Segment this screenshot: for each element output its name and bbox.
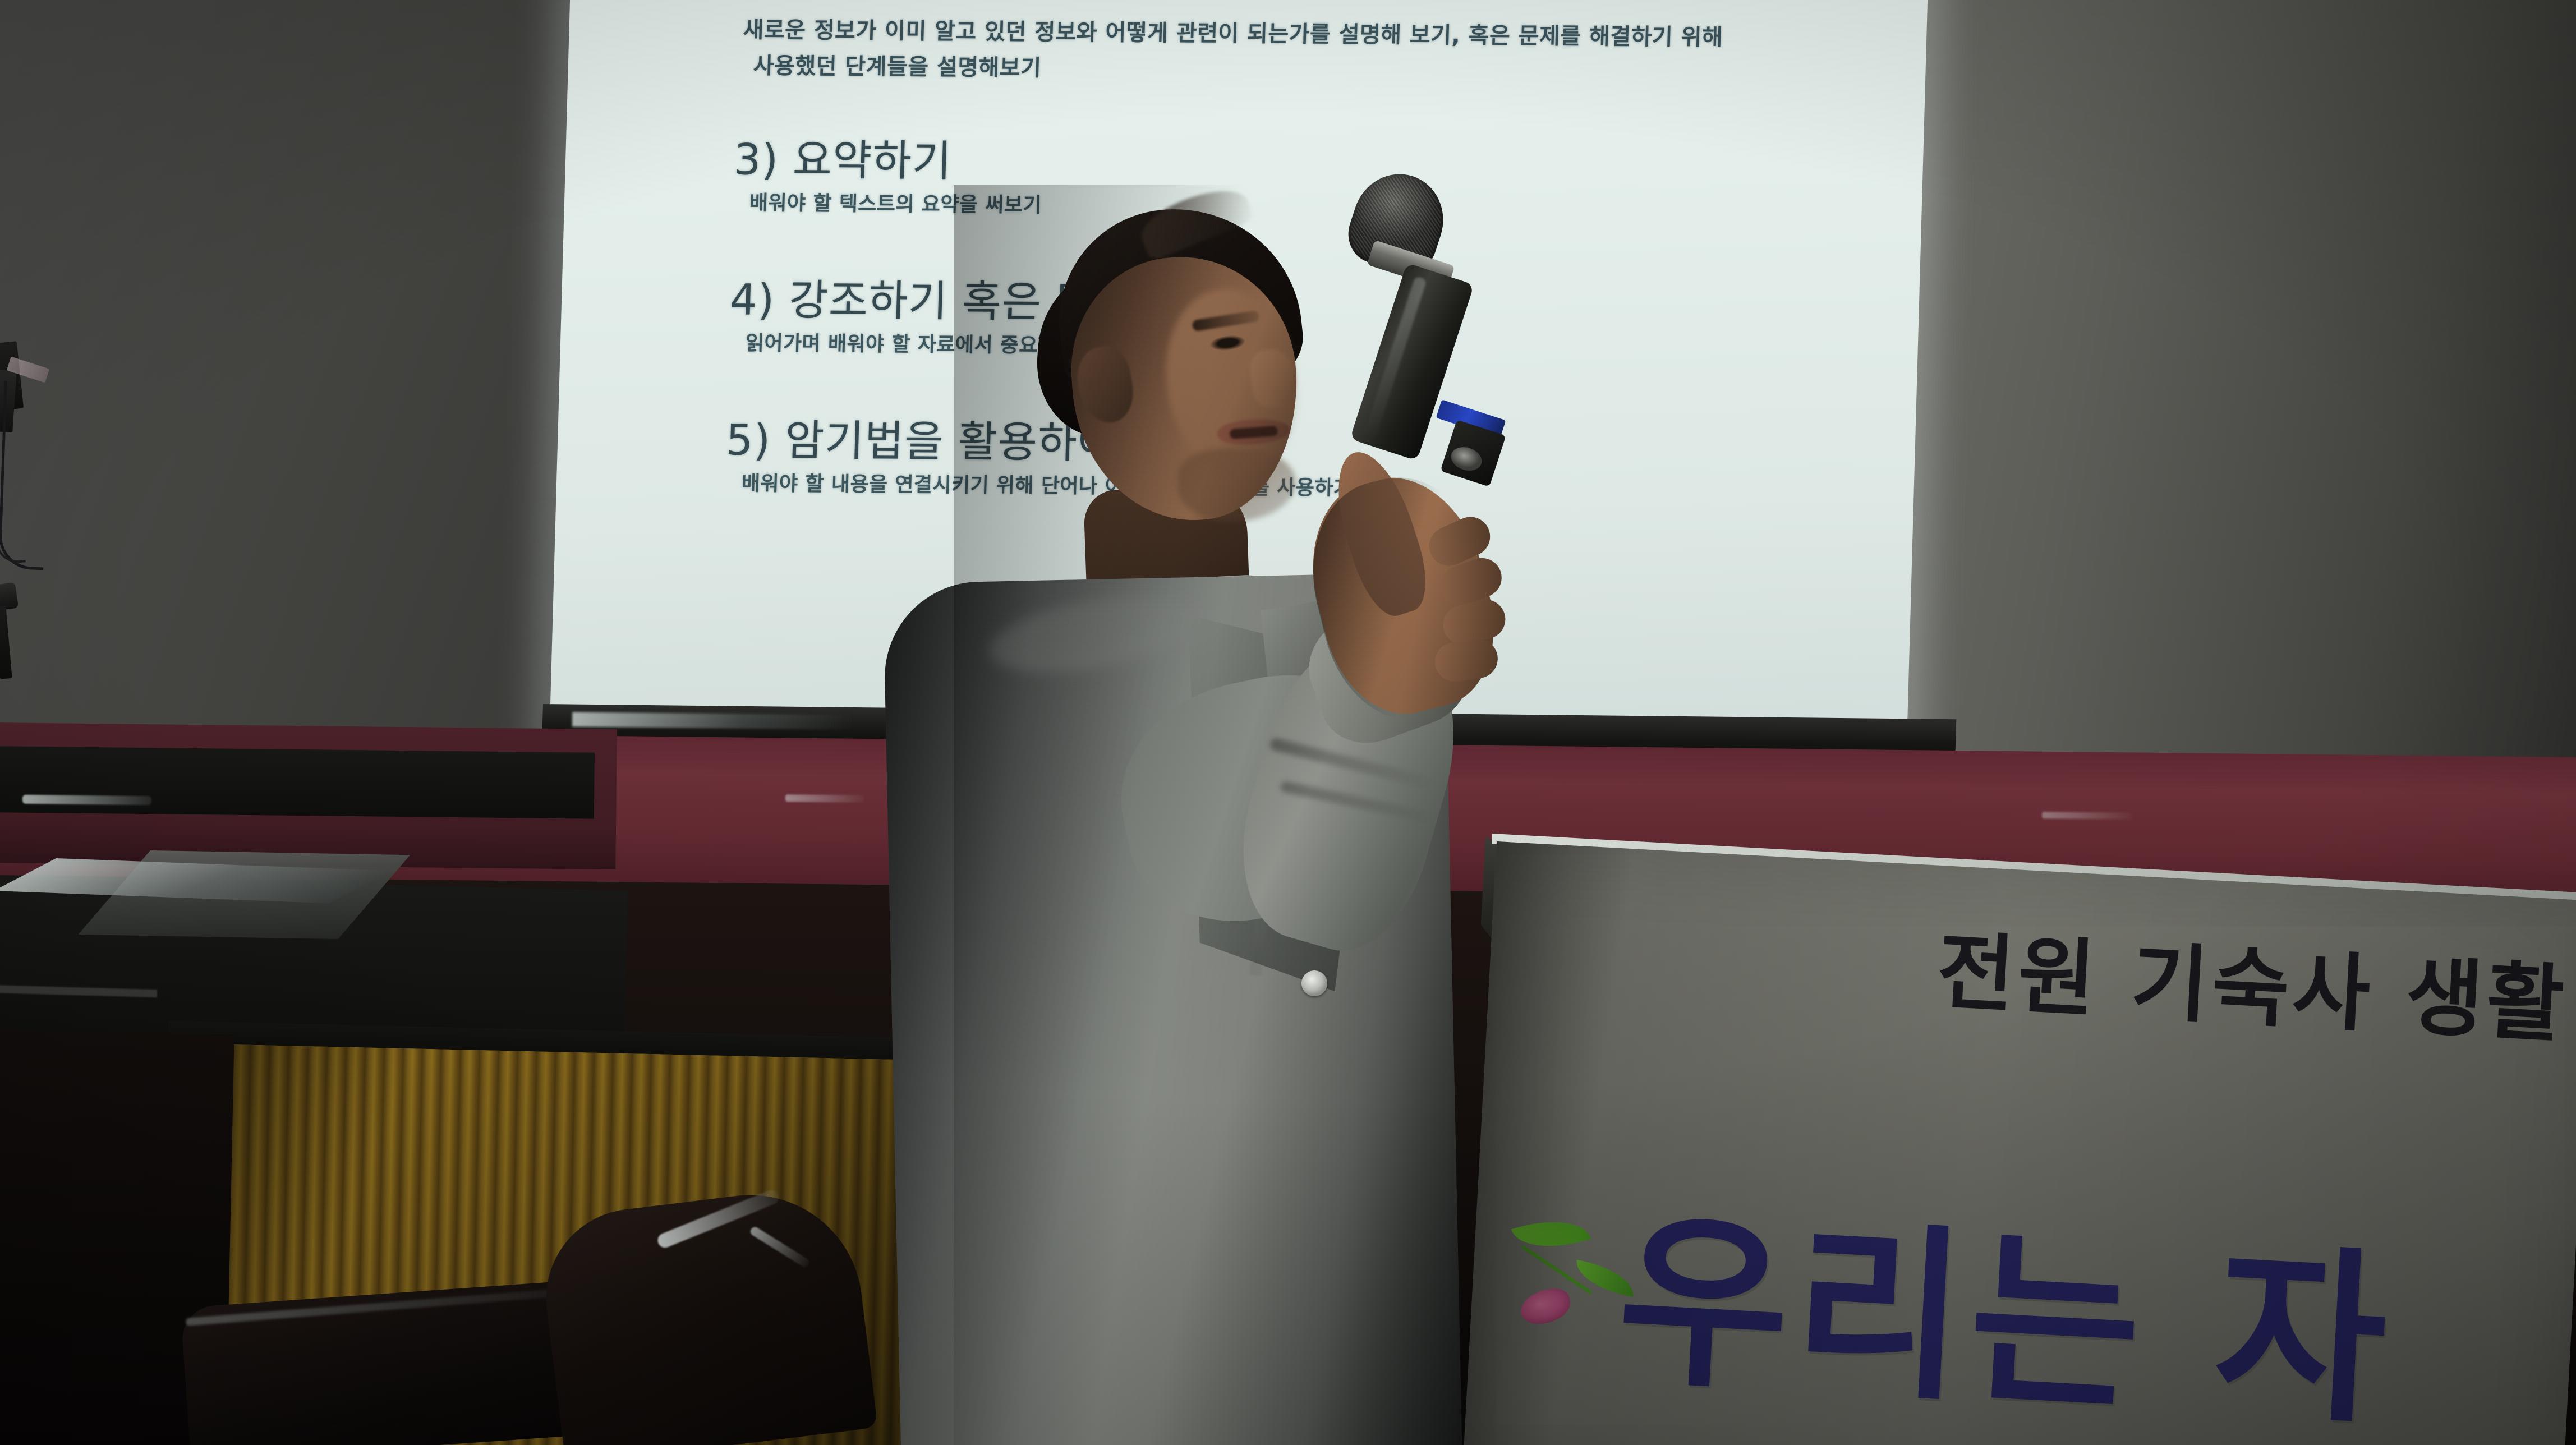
jacket-button-bottom xyxy=(1301,970,1327,996)
slide-line-bullet2-cont: 새로운 정보가 이미 알고 있던 정보와 어떻게 관련이 되는가를 설명해 보기… xyxy=(743,11,1723,52)
stage-edge-highlight xyxy=(22,795,151,805)
speaker-figure xyxy=(954,185,1694,1445)
left-wall xyxy=(0,0,572,797)
chin xyxy=(1178,449,1296,522)
stage-scuff-mark-right xyxy=(2042,812,2132,820)
stage-scuff-mark xyxy=(785,794,864,802)
banner-slogan: 우리는 자 xyxy=(1612,1150,2399,1445)
stage-black-band xyxy=(0,746,595,819)
photograph-scene: 새로운 정보가 이미 알고 있던 정보와 어떻게 관련이 되는가를 설명해 보기… xyxy=(0,0,2576,1445)
trim-highlight xyxy=(572,712,853,729)
slide-line-bullet2-cont2: 사용했던 단계들을 설명해보기 xyxy=(753,48,1042,82)
right-wall xyxy=(1896,0,2576,875)
slide-item-3-heading: 3) 요약하기 xyxy=(733,125,953,188)
